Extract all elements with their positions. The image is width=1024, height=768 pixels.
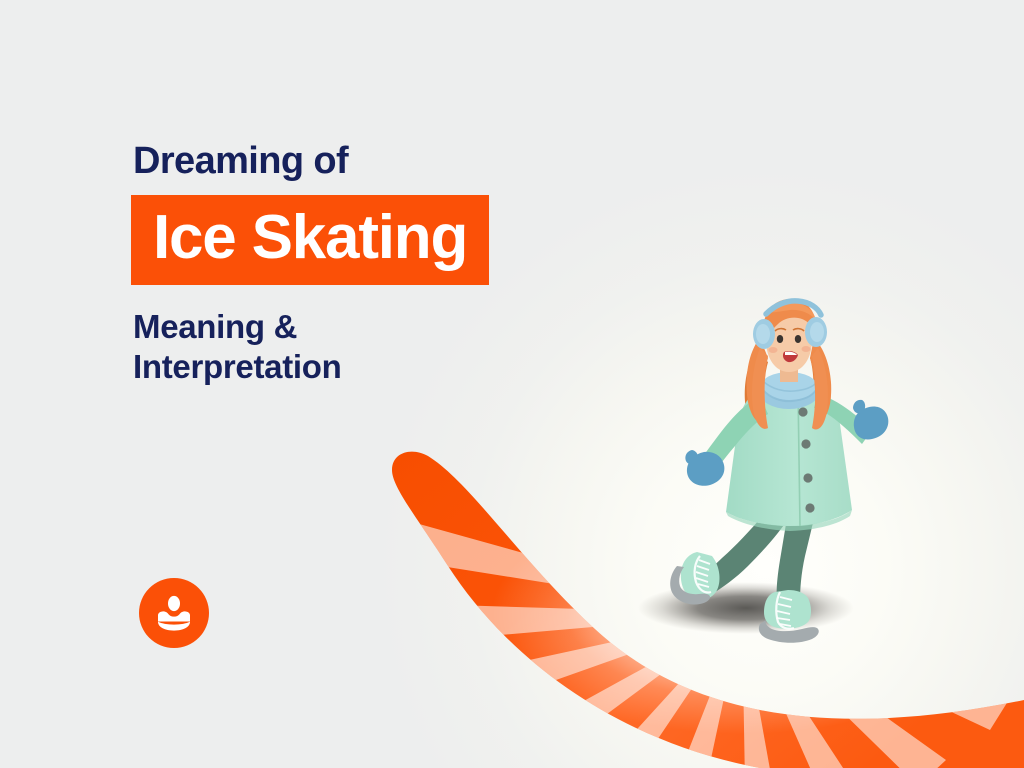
hair-back-left — [745, 352, 770, 441]
neck — [780, 362, 798, 382]
hair-fringe — [763, 299, 817, 340]
coat-hem — [726, 510, 852, 531]
hair-back-right — [808, 348, 831, 439]
coat-placket — [798, 390, 800, 526]
mitten-right — [853, 400, 888, 440]
leg-front — [777, 500, 818, 602]
ground-shadow — [638, 582, 854, 634]
person-in-water-icon — [152, 591, 196, 635]
face — [766, 308, 812, 372]
arm-right — [814, 394, 872, 444]
brow-left — [775, 329, 786, 331]
hair-front-left — [752, 348, 768, 429]
graphic-canvas: Dreaming of Ice Skating Meaning & Interp… — [0, 0, 1024, 768]
subtitle-text: Meaning & Interpretation — [133, 307, 601, 388]
eye-left — [777, 335, 783, 343]
blush-right — [802, 346, 811, 352]
orange-swoosh-arc — [392, 452, 1024, 768]
earmuffs — [753, 301, 827, 349]
mouth — [783, 351, 798, 362]
headline-text: Ice Skating — [153, 207, 467, 269]
coat-body — [726, 386, 852, 526]
hair-highlight — [770, 303, 816, 320]
leg-back — [700, 510, 790, 594]
headline-highlight-box: Ice Skating — [131, 195, 489, 285]
teeth — [785, 352, 797, 355]
subtitle-line-1: Meaning & — [133, 307, 601, 347]
skate-back — [670, 552, 719, 605]
swoosh-light-rays — [412, 494, 1024, 768]
brow-right — [793, 329, 804, 331]
scarf — [759, 372, 819, 409]
hair-front-right — [812, 348, 828, 430]
kicker-text: Dreaming of — [133, 142, 601, 180]
eye-right — [795, 335, 801, 343]
subtitle-line-2: Interpretation — [133, 347, 601, 387]
hair-right-strand — [810, 338, 831, 424]
arm-left — [702, 396, 768, 470]
brand-logo[interactable] — [139, 578, 209, 648]
mitten-left — [685, 450, 724, 486]
title-block: Dreaming of Ice Skating Meaning & Interp… — [131, 142, 601, 388]
skate-front — [759, 590, 819, 643]
skater-figure — [670, 299, 888, 643]
coat-buttons — [798, 407, 814, 512]
hair-left-strand — [747, 338, 769, 424]
blush-left — [769, 347, 778, 353]
